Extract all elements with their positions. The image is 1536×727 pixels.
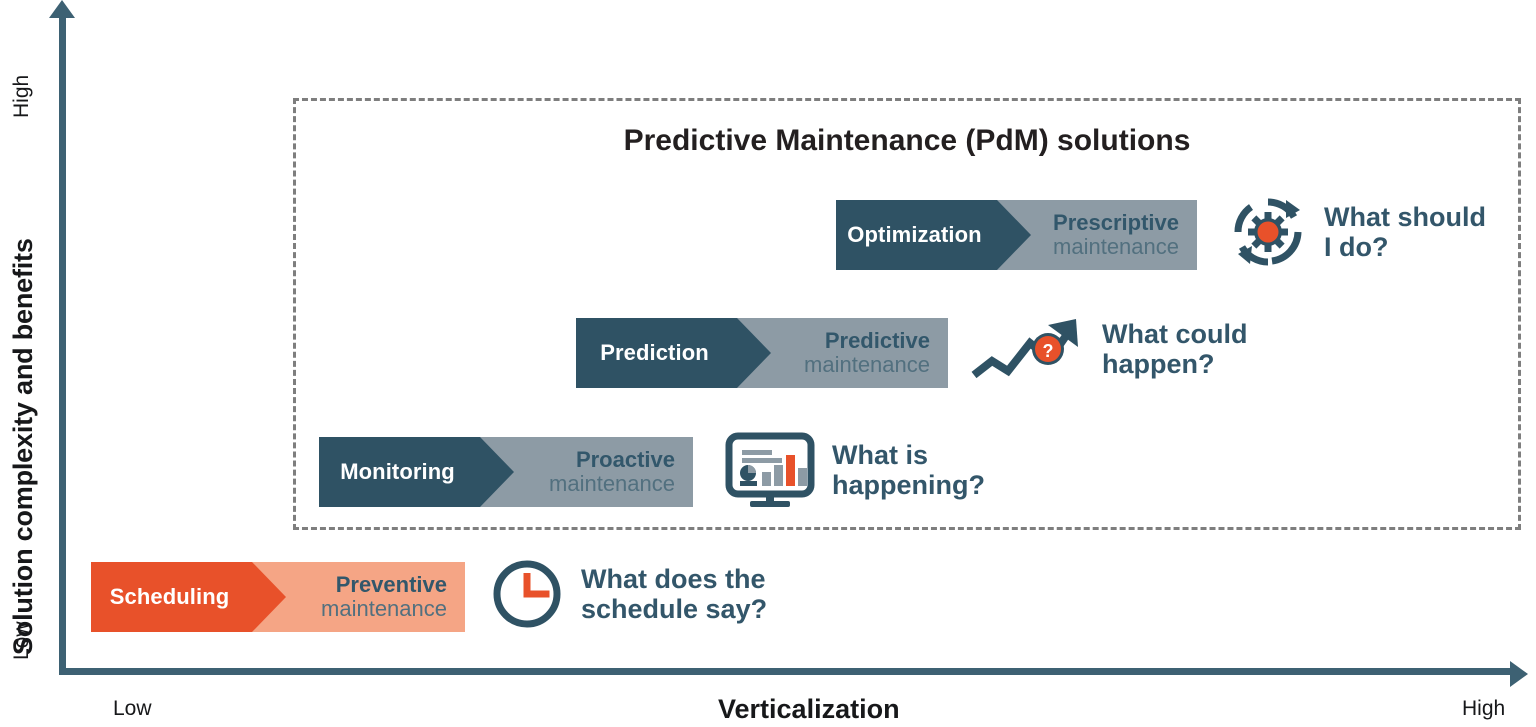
maintenance-title: Prescriptive (1053, 211, 1179, 235)
maintenance-title: Proactive (576, 448, 675, 472)
maintenance-title: Preventive (336, 573, 447, 597)
maintenance-title: Predictive (825, 329, 930, 353)
cycle-gear-icon (1228, 192, 1308, 272)
x-axis-title: Verticalization (718, 694, 900, 725)
clock-icon (489, 556, 565, 632)
x-axis-high-label: High (1462, 697, 1505, 721)
row-monitoring[interactable]: Monitoring Proactive maintenance (319, 437, 693, 507)
maturity-diagram: High Low Solution complexity and benefit… (0, 0, 1536, 727)
question-text-prediction: What could happen? (1102, 319, 1247, 380)
row-prediction[interactable]: Prediction Predictive maintenance (576, 318, 948, 388)
bar-scheduling: Scheduling Preventive maintenance (91, 562, 465, 632)
bar-optimization: Optimization Prescriptive maintenance (836, 200, 1197, 270)
stage-chevron-scheduling: Scheduling (91, 562, 252, 632)
pdm-group-title: Predictive Maintenance (PdM) solutions (293, 124, 1521, 158)
question-text-optimization: What should I do? (1324, 202, 1486, 263)
y-axis-line (59, 14, 66, 675)
y-axis-title: Solution complexity and benefits (8, 238, 39, 655)
dashboard-monitor-icon (724, 430, 816, 510)
trend-up-question-icon: ? (968, 313, 1086, 385)
stage-chevron-prediction: Prediction (576, 318, 737, 388)
svg-text:?: ? (1043, 341, 1054, 361)
bar-prediction: Prediction Predictive maintenance (576, 318, 948, 388)
maintenance-subtitle: maintenance (804, 353, 930, 377)
question-text-scheduling: What does the schedule say? (581, 564, 767, 625)
stage-chevron-optimization: Optimization (836, 200, 997, 270)
x-axis-arrowhead-icon (1510, 661, 1528, 687)
question-monitoring[interactable]: What is happening? (724, 430, 985, 510)
question-optimization[interactable]: What should I do? (1228, 192, 1486, 272)
y-axis-high-label: High (10, 75, 34, 118)
x-axis-line (59, 668, 1514, 675)
row-optimization[interactable]: Optimization Prescriptive maintenance (836, 200, 1197, 270)
maintenance-subtitle: maintenance (1053, 235, 1179, 259)
x-axis-low-label: Low (113, 697, 152, 721)
question-scheduling[interactable]: What does the schedule say? (489, 556, 767, 632)
row-scheduling[interactable]: Scheduling Preventive maintenance (91, 562, 465, 632)
bar-monitoring: Monitoring Proactive maintenance (319, 437, 693, 507)
maintenance-subtitle: maintenance (321, 597, 447, 621)
maintenance-subtitle: maintenance (549, 472, 675, 496)
stage-chevron-monitoring: Monitoring (319, 437, 480, 507)
question-prediction[interactable]: ? What could happen? (968, 313, 1247, 385)
question-text-monitoring: What is happening? (832, 440, 985, 501)
y-axis-arrowhead-icon (49, 0, 75, 18)
